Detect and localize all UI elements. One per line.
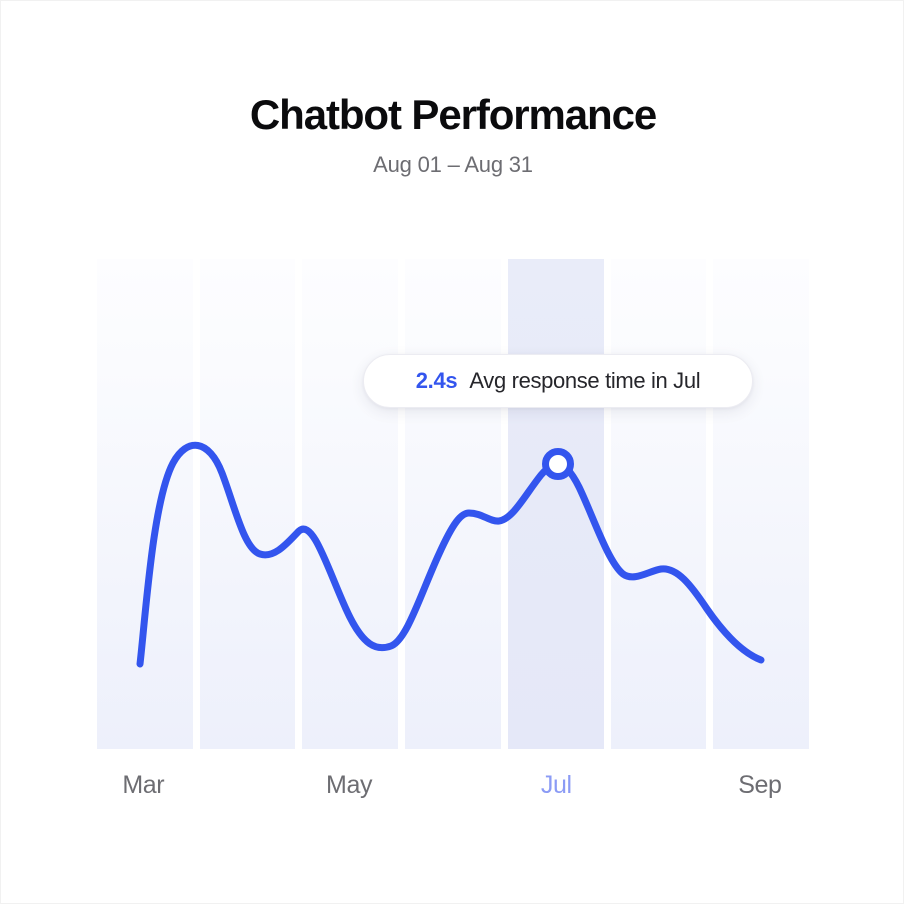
tooltip-callout[interactable]: 2.4s Avg response time in Jul (363, 354, 753, 408)
plot-area (97, 259, 809, 749)
x-tick-may[interactable]: May (326, 771, 372, 800)
tooltip-value: 2.4s (416, 368, 458, 394)
tooltip-label: Avg response time in Jul (469, 368, 700, 394)
x-tick-sep[interactable]: Sep (738, 771, 781, 800)
month-band-apr[interactable] (200, 259, 296, 749)
month-band-jun[interactable] (405, 259, 501, 749)
month-bands (97, 259, 809, 749)
chart-card: Chatbot Performance Aug 01 – Aug 31 2.4s… (0, 0, 904, 904)
x-axis: Mar May Jul Sep (97, 771, 809, 815)
month-band-may[interactable] (302, 259, 398, 749)
month-band-sep[interactable] (713, 259, 809, 749)
page-title: Chatbot Performance (1, 91, 904, 138)
month-band-jul[interactable] (508, 259, 604, 749)
month-band-mar[interactable] (97, 259, 193, 749)
date-range-subtitle: Aug 01 – Aug 31 (1, 152, 904, 178)
x-tick-jul[interactable]: Jul (541, 771, 572, 800)
month-band-aug[interactable] (611, 259, 707, 749)
chart-header: Chatbot Performance Aug 01 – Aug 31 (1, 91, 904, 178)
x-tick-mar[interactable]: Mar (122, 771, 164, 800)
